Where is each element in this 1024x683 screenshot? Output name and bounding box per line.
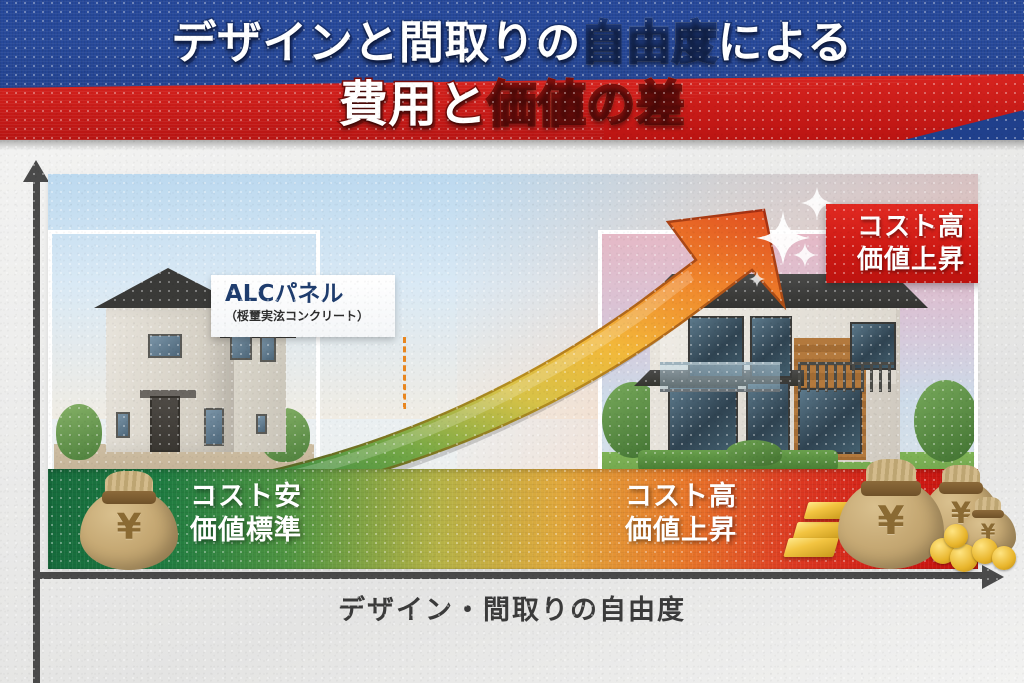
money-bag-tie [102, 491, 157, 504]
title-segment-2: 自由度 [581, 16, 718, 69]
gold-bar-icon [783, 538, 838, 557]
title-segment-4: 費用と [339, 76, 488, 133]
yen-icon: ¥ [838, 499, 944, 544]
x-axis-line [33, 572, 988, 579]
bar-label-right-line2: 価値上昇 [625, 514, 737, 548]
badge-line-1: コスト高 [857, 211, 965, 244]
alc-leader-line [403, 337, 406, 409]
title-line-1: デザインと間取りの自由度による [0, 16, 1024, 70]
title-segment-3: による [717, 16, 852, 69]
money-bag-tie [972, 510, 1003, 518]
money-bag-tie [861, 481, 920, 495]
alc-panel-callout[interactable]: ALCパネル （桵壐実泫コンクリート） [211, 275, 395, 337]
cost-high-badge: コスト高 価値上昇 [826, 204, 978, 283]
chart-region: コスト・価値 デザイン・間取りの自由度 [0, 150, 1024, 683]
header-banner: デザインと間取りの自由度による 費用と価値の差 [0, 0, 1024, 140]
title-line-2: 費用と価値の差 [0, 76, 1024, 134]
alc-callout-subtitle: （桵壐実泫コンクリート） [225, 308, 385, 324]
title-segment-5: 価値の差 [487, 76, 685, 133]
gold-coin-icon [992, 546, 1016, 570]
infographic-page: デザインと間取りの自由度による 費用と価値の差 コスト・価値 デザイン・間取りの… [0, 0, 1024, 683]
alc-callout-title: ALCパネル [225, 281, 385, 307]
bar-label-left: コスト安 価値標準 [190, 480, 302, 548]
title-segment-1: デザインと間取りの [171, 16, 581, 69]
x-axis-label: デザイン・間取りの自由度 [0, 588, 1024, 627]
bar-label-right: コスト高 価値上昇 [625, 480, 737, 548]
yen-icon: ¥ [80, 507, 178, 548]
money-bag: ¥ [80, 462, 178, 570]
money-bag: ¥ [838, 449, 944, 569]
badge-line-2: 価値上昇 [857, 244, 965, 277]
bar-label-left-line1: コスト安 [190, 480, 302, 514]
bar-label-left-line2: 価値標準 [190, 514, 302, 548]
gold-coin-icon [944, 524, 968, 548]
header-drop-shadow [0, 140, 1024, 150]
bar-label-right-line1: コスト高 [625, 480, 737, 514]
